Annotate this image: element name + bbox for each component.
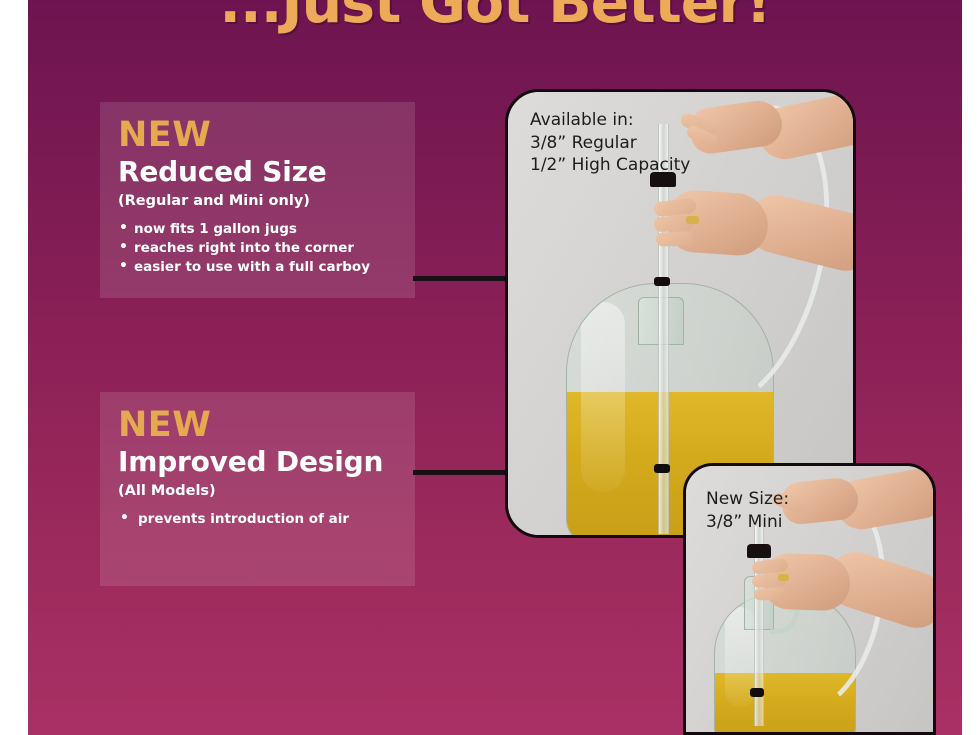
caption-line: 3/8” Regular	[530, 133, 637, 153]
photo-caption-main: Available in: 3/8” Regular 1/2” High Cap…	[530, 109, 690, 177]
list-item: easier to use with a full carboy	[118, 258, 397, 277]
callout-subnote: (All Models)	[118, 482, 397, 500]
list-item: now fits 1 gallon jugs	[118, 220, 397, 239]
page-title: ...Just Got Better!	[28, 0, 962, 36]
callout-title: Improved Design	[118, 446, 397, 478]
photo-scene: New Size: 3/8” Mini	[686, 466, 933, 732]
wedding-ring-icon	[778, 574, 789, 581]
callout-badge-new: NEW	[118, 116, 397, 154]
callout-bullet-list: now fits 1 gallon jugs reaches right int…	[118, 220, 397, 277]
caption-line: 3/8” Mini	[706, 512, 782, 532]
poster-root: ...Just Got Better! NEW Reduced Size (Re…	[0, 0, 980, 735]
list-item: reaches right into the corner	[118, 239, 397, 258]
callout-badge-new: NEW	[118, 406, 397, 444]
caption-line: Available in:	[530, 110, 634, 130]
photo-inset-mini: New Size: 3/8” Mini	[683, 463, 936, 735]
callout-improved-design: NEW Improved Design (All Models) prevent…	[100, 392, 415, 586]
list-item: prevents introduction of air	[118, 510, 397, 529]
caption-line: 1/2” High Capacity	[530, 155, 690, 175]
caption-line: New Size:	[706, 489, 789, 509]
wedding-ring-icon	[686, 216, 699, 224]
cane-tip-lower-icon	[654, 464, 670, 473]
hand-lower-finger	[754, 587, 786, 600]
carboy-highlight	[581, 302, 625, 492]
cane-cap-icon	[747, 544, 771, 558]
callout-subnote: (Regular and Mini only)	[118, 192, 397, 210]
photo-caption-inset: New Size: 3/8” Mini	[706, 488, 789, 534]
hand-lower-finger	[656, 231, 694, 246]
callout-reduced-size: NEW Reduced Size (Regular and Mini only)…	[100, 102, 415, 298]
callout-bullet-list: prevents introduction of air	[118, 510, 397, 529]
callout-title: Reduced Size	[118, 156, 397, 188]
cane-tip-icon	[750, 688, 764, 697]
